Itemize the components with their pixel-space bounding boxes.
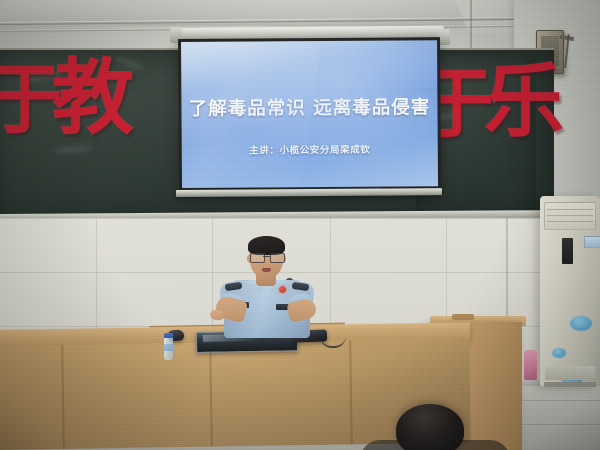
microphone-windscreen	[279, 286, 286, 293]
ac-foot	[544, 382, 596, 387]
wall-character-4: 乐	[484, 62, 564, 142]
ac-slat	[547, 215, 593, 216]
podium-seam	[61, 345, 65, 449]
audience-member-head	[396, 404, 464, 450]
podium-seam	[209, 343, 213, 447]
bottle-label	[164, 344, 173, 351]
glasses-icon	[250, 253, 283, 261]
glasses-lens-right	[270, 253, 285, 263]
glasses-lens-left	[250, 253, 265, 263]
podium-seam	[349, 340, 353, 444]
ac-display-panel[interactable]	[562, 238, 573, 264]
ac-top-grille	[544, 202, 596, 230]
bottle-cap	[164, 333, 173, 338]
slide-subtitle: 主讲：小榄公安分局梁成钦	[182, 141, 438, 157]
presenter-police-officer	[214, 236, 318, 336]
mouth	[262, 268, 271, 272]
ac-brand-label	[584, 236, 600, 248]
ac-sticker	[552, 348, 566, 358]
projection-screen: 了解毒品常识 远离毒品侵害 主讲：小榄公安分局梁成钦	[178, 37, 441, 191]
glasses-bridge	[263, 256, 270, 257]
tile-line	[0, 218, 600, 219]
ac-slat	[547, 209, 593, 210]
podium-notch	[452, 314, 474, 320]
slide-title: 了解毒品常识 远离毒品侵害	[181, 93, 437, 121]
ac-slat	[547, 221, 593, 222]
arm-right	[286, 297, 318, 322]
lecture-hall-photo: 于 教 于 乐 了解毒品常识 远离毒品侵害 主讲：小榄公安分局梁成钦	[0, 0, 600, 450]
wall-character-2: 教	[52, 58, 134, 140]
ac-bottom-grille	[545, 366, 595, 380]
pink-bag	[524, 350, 537, 380]
air-conditioner-unit	[540, 196, 600, 386]
ac-sticker	[570, 316, 592, 331]
slide-surface: 了解毒品常识 远离毒品侵害 主讲：小榄公安分局梁成钦	[181, 40, 438, 188]
